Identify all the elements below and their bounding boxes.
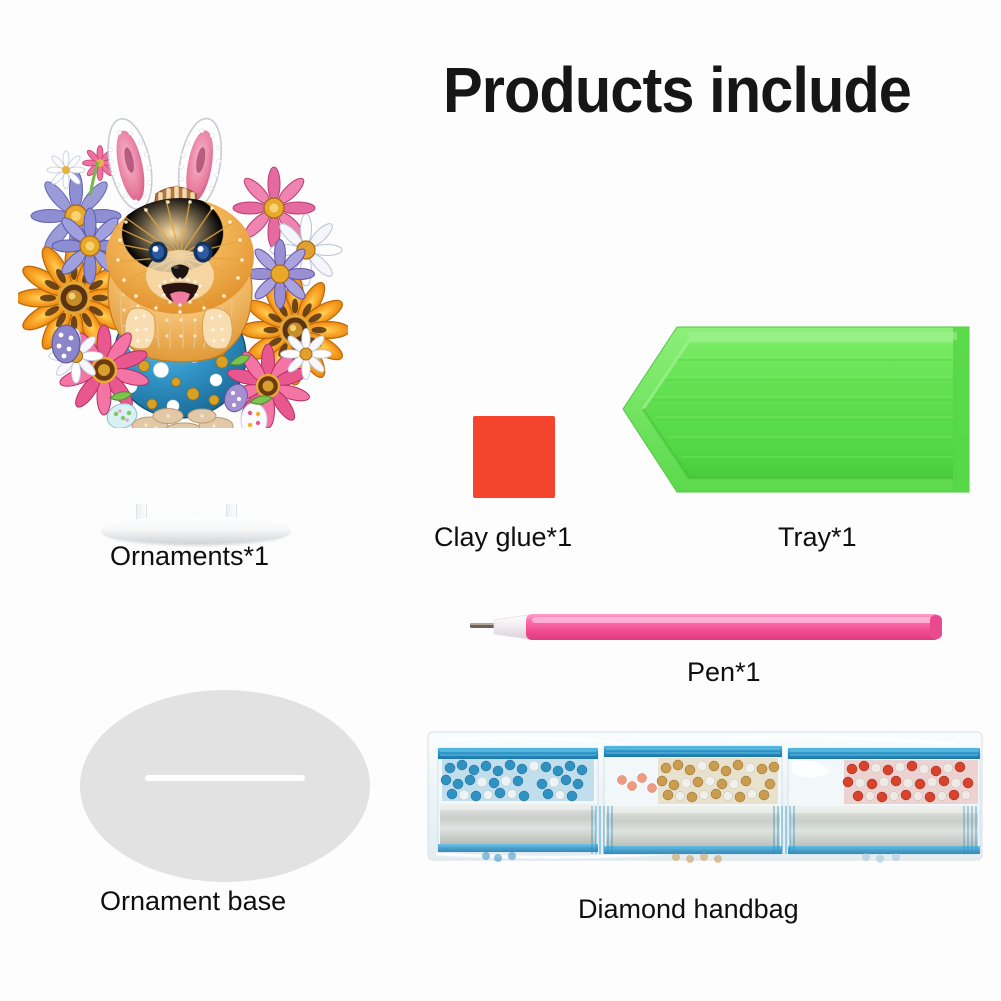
ornament-base-caption: Ornament base — [100, 888, 286, 915]
tray-svg — [617, 312, 972, 507]
ornament-artwork-svg — [18, 98, 348, 428]
diamond-handbag-caption: Diamond handbag — [578, 896, 799, 923]
diamond-handbag-figure — [426, 718, 984, 878]
pen-svg — [468, 608, 948, 648]
ornament-figure — [18, 98, 348, 458]
ornaments-caption: Ornaments*1 — [110, 543, 269, 570]
clay-glue-block — [473, 416, 555, 498]
product-include-infographic: Products include — [0, 0, 1001, 1001]
ornament-base-oval — [80, 690, 370, 882]
pen-caption: Pen*1 — [687, 659, 761, 686]
tray-caption: Tray*1 — [778, 524, 857, 551]
ornament-base-slot — [145, 775, 305, 781]
tray-figure — [617, 312, 972, 507]
diamond-handbag-svg — [426, 718, 984, 878]
page-title: Products include — [443, 58, 911, 122]
clay-glue-caption: Clay glue*1 — [434, 524, 572, 551]
acrylic-stand-base — [102, 516, 290, 544]
pen-figure — [468, 608, 948, 648]
